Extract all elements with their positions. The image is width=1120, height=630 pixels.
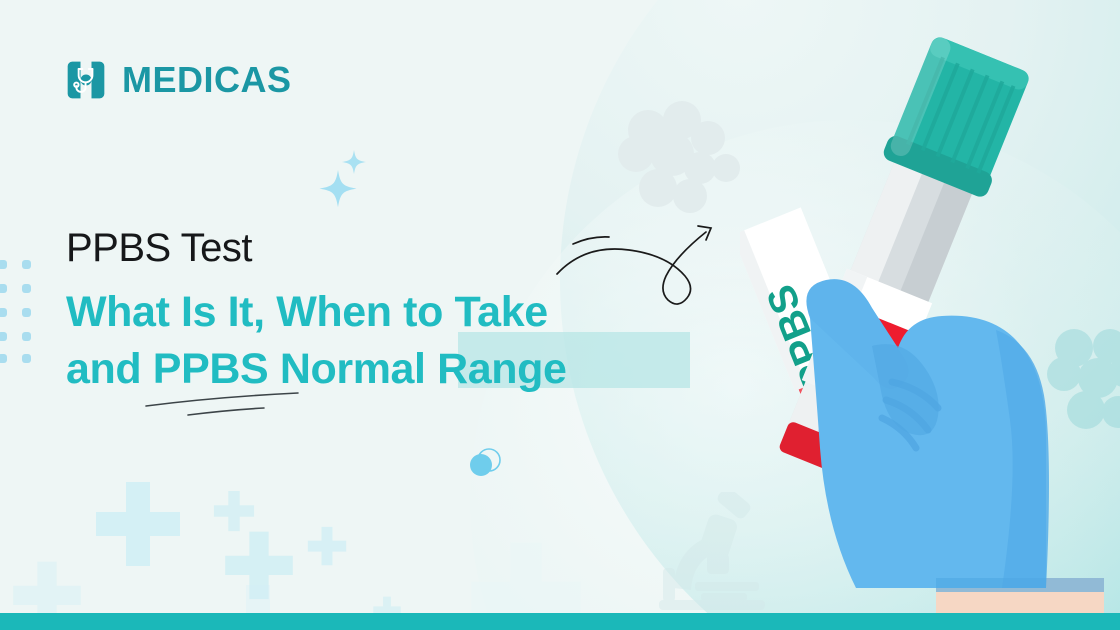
gloved-hand xyxy=(806,279,1104,630)
brand-logo[interactable]: MEDICAS xyxy=(64,58,292,102)
medical-cross-icon xyxy=(306,526,348,568)
medical-cross-icon xyxy=(92,480,184,572)
medical-cross-icon xyxy=(212,490,256,534)
medicas-logo-icon xyxy=(64,58,108,102)
curved-arrow-icon xyxy=(540,212,740,322)
medical-cross-icon xyxy=(222,530,296,604)
hand-with-test-tubes-illustration: PPBS xyxy=(740,30,1120,630)
dot-grid-icon xyxy=(0,258,42,366)
molecule-cluster-icon xyxy=(612,96,742,221)
pill-icon xyxy=(468,448,502,478)
sparkle-icon xyxy=(312,142,382,212)
underline-strokes xyxy=(140,388,315,424)
hero-banner: MEDICAS PPBS Test What Is It, When to Ta… xyxy=(0,0,1120,630)
footer-bar xyxy=(0,613,1120,630)
brand-name: MEDICAS xyxy=(122,59,292,101)
